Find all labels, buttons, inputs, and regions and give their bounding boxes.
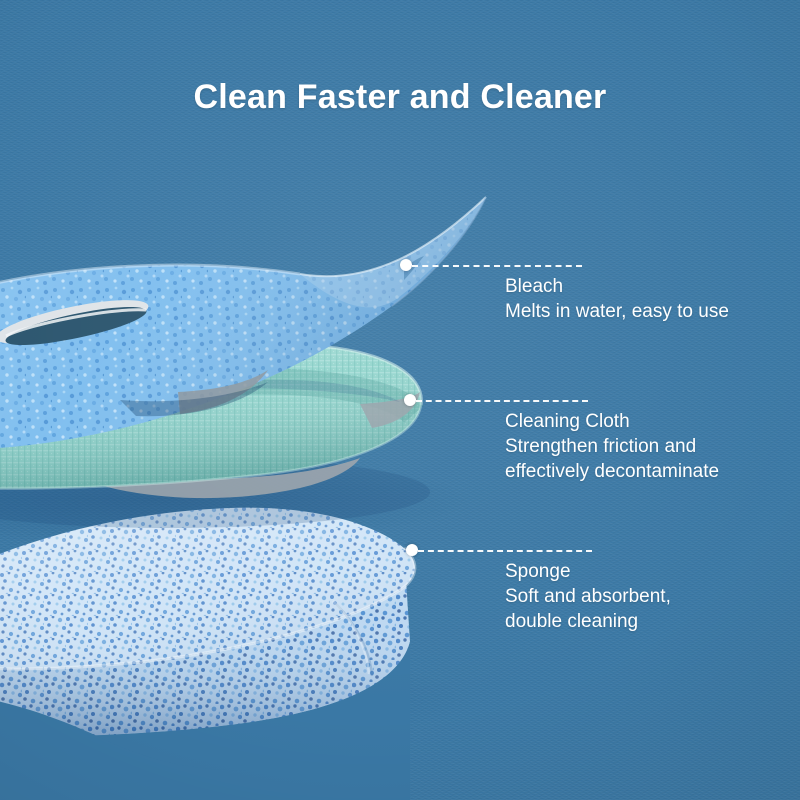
callout-sponge-desc-line-1: Soft and absorbent,	[505, 584, 671, 609]
callout-cleaning-cloth-desc-line-1: Strengthen friction and	[505, 434, 719, 459]
sponge-layer	[0, 508, 415, 800]
callout-cleaning-cloth-leader-line	[416, 400, 588, 402]
callout-cleaning-cloth-desc-line-2: effectively decontaminate	[505, 459, 719, 484]
callout-bleach-desc-line-1: Melts in water, easy to use	[505, 299, 729, 324]
callout-bleach-dot	[400, 259, 412, 271]
callout-sponge-leader-line	[418, 550, 592, 552]
callout-bleach-title: Bleach	[505, 274, 729, 299]
callout-bleach-leader-line	[412, 265, 582, 267]
callout-cleaning-cloth-text: Cleaning Cloth Strengthen friction and e…	[505, 409, 719, 484]
product-infographic: Clean Faster and Cleaner Bleach Melts in…	[0, 0, 800, 800]
callout-sponge-desc-line-2: double cleaning	[505, 609, 671, 634]
callout-sponge-title: Sponge	[505, 559, 671, 584]
page-title: Clean Faster and Cleaner	[0, 78, 800, 117]
callout-sponge-text: Sponge Soft and absorbent, double cleani…	[505, 559, 671, 634]
callout-sponge-dot	[406, 544, 418, 556]
callout-cleaning-cloth-dot	[404, 394, 416, 406]
product-exploded-diagram	[0, 0, 800, 800]
callout-cleaning-cloth-title: Cleaning Cloth	[505, 409, 719, 434]
callout-bleach-text: Bleach Melts in water, easy to use	[505, 274, 729, 324]
